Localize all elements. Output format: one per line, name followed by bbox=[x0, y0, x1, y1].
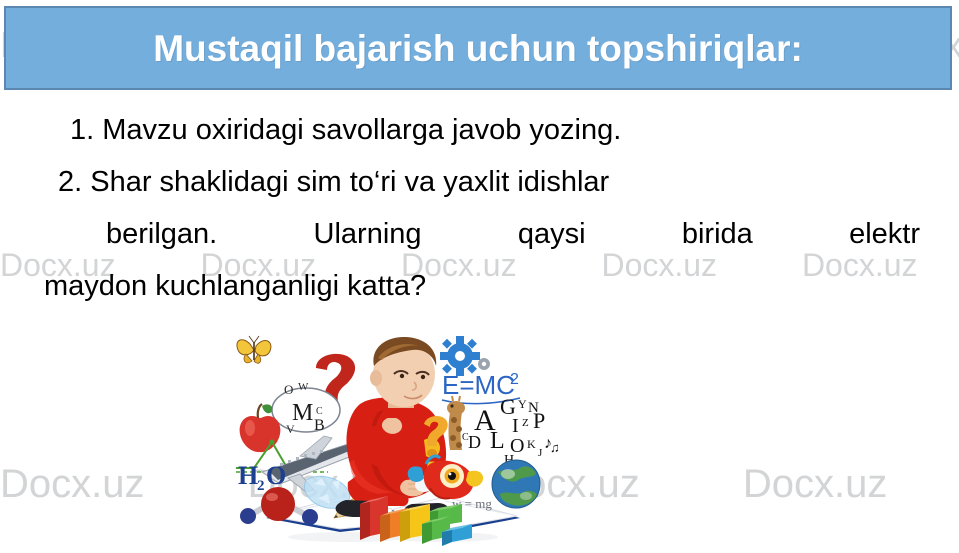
task-line-3: berilgan. Ularning qaysi birida elektr bbox=[58, 208, 920, 260]
task-word: qaysi bbox=[518, 208, 586, 260]
svg-text:D: D bbox=[468, 432, 481, 452]
svg-text:B: B bbox=[314, 417, 325, 434]
svg-text:M: M bbox=[292, 400, 313, 426]
task-word: birida bbox=[682, 208, 753, 260]
svg-text:♫: ♫ bbox=[550, 440, 558, 455]
svg-text:H: H bbox=[238, 461, 258, 490]
watermark-text: Docx.uz bbox=[743, 462, 888, 507]
globe-icon bbox=[492, 460, 540, 508]
svg-text:P: P bbox=[533, 408, 545, 433]
svg-text:2: 2 bbox=[257, 478, 265, 494]
svg-text:2: 2 bbox=[510, 371, 519, 388]
svg-text:Z: Z bbox=[522, 417, 529, 429]
svg-text:C: C bbox=[316, 406, 323, 417]
task-line-2: 2. Shar shaklidagi sim to‘ri va yaxlit i… bbox=[58, 156, 920, 208]
task-list: 1. Mavzu oxiridagi savollarga javob yozi… bbox=[58, 104, 920, 312]
alphabet-letters: A G Y N P I Z L O K D C H J ♪ ♫ bbox=[462, 394, 558, 468]
svg-text:V: V bbox=[286, 422, 295, 436]
title-banner: Mustaqil bajarish uchun topshiriqlar: bbox=[4, 6, 952, 90]
svg-text:J: J bbox=[538, 447, 543, 459]
watermark-text: Docx.uz bbox=[0, 462, 145, 507]
education-collage-illustration: M O W C B V bbox=[228, 332, 558, 550]
svg-text:K: K bbox=[527, 437, 536, 451]
svg-text:O: O bbox=[266, 461, 286, 490]
svg-text:L: L bbox=[490, 428, 505, 454]
task-word: berilgan. bbox=[106, 208, 217, 260]
task-word: elektr bbox=[849, 208, 920, 260]
task-word: Ularning bbox=[314, 208, 422, 260]
svg-text:C: C bbox=[462, 432, 469, 443]
page-title: Mustaqil bajarish uchun topshiriqlar: bbox=[153, 30, 803, 67]
svg-text:W: W bbox=[298, 381, 309, 393]
svg-text:O: O bbox=[284, 382, 293, 397]
svg-text:I: I bbox=[512, 415, 519, 437]
butterfly-icon bbox=[237, 336, 271, 363]
task-line-4: maydon kuchlanganligi katta? bbox=[44, 260, 920, 312]
svg-text:Y: Y bbox=[518, 397, 527, 411]
task-line-1: 1. Mavzu oxiridagi savollarga javob yozi… bbox=[58, 104, 920, 156]
